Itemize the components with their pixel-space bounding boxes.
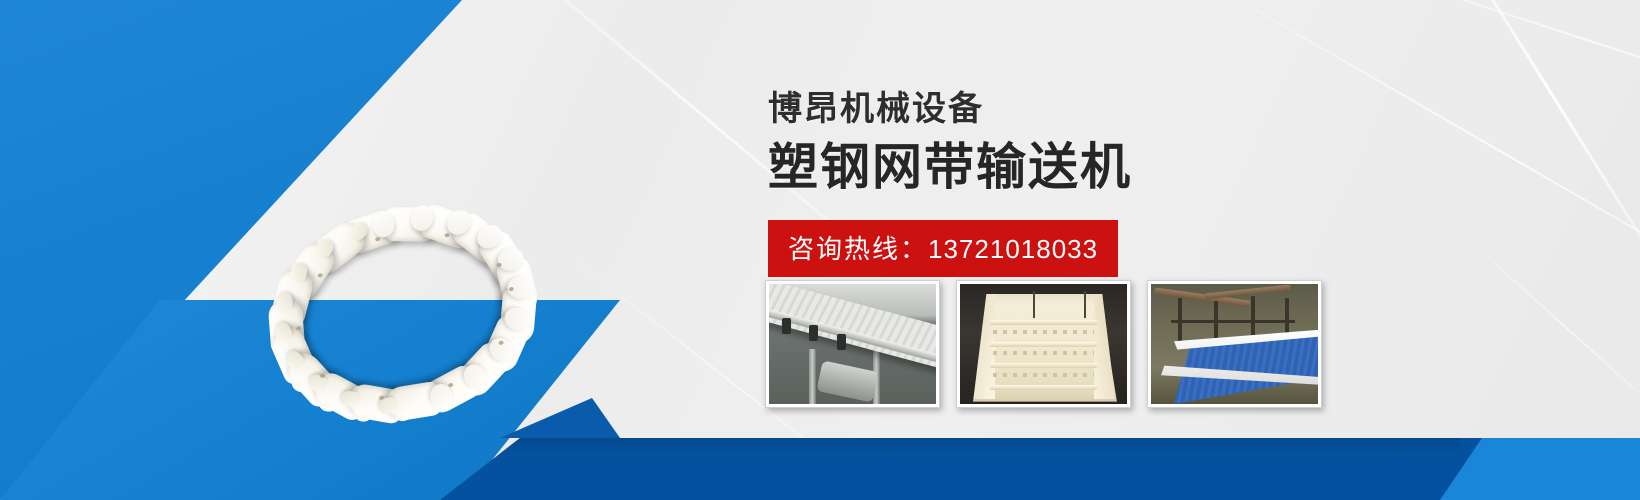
gray-modular-belt-conveyor-image xyxy=(769,284,936,404)
page-title: 塑钢网带输送机 xyxy=(768,137,1388,198)
cream-cleated-sidewall-belt-image xyxy=(960,284,1127,404)
blue-curved-belt-conveyor-image xyxy=(1151,284,1318,404)
product-photo-1[interactable] xyxy=(765,280,940,408)
product-photo-3[interactable] xyxy=(1147,280,1322,408)
hotline-badge[interactable]: 咨询热线：13721018033 xyxy=(768,220,1118,277)
hotline-label: 咨询热线： xyxy=(788,234,928,264)
company-name: 博昂机械设备 xyxy=(768,88,1388,131)
product-photo-gallery xyxy=(765,280,1322,408)
product-photo-2[interactable] xyxy=(956,280,1131,408)
plastic-chain-ring xyxy=(225,164,582,464)
promo-banner: 博昂机械设备 塑钢网带输送机 咨询热线：13721018033 xyxy=(0,0,1640,500)
hotline-number: 13721018033 xyxy=(928,234,1098,264)
hero-product-image xyxy=(248,198,558,430)
chain-link xyxy=(383,380,446,423)
banner-text-block: 博昂机械设备 塑钢网带输送机 咨询热线：13721018033 xyxy=(768,88,1388,277)
